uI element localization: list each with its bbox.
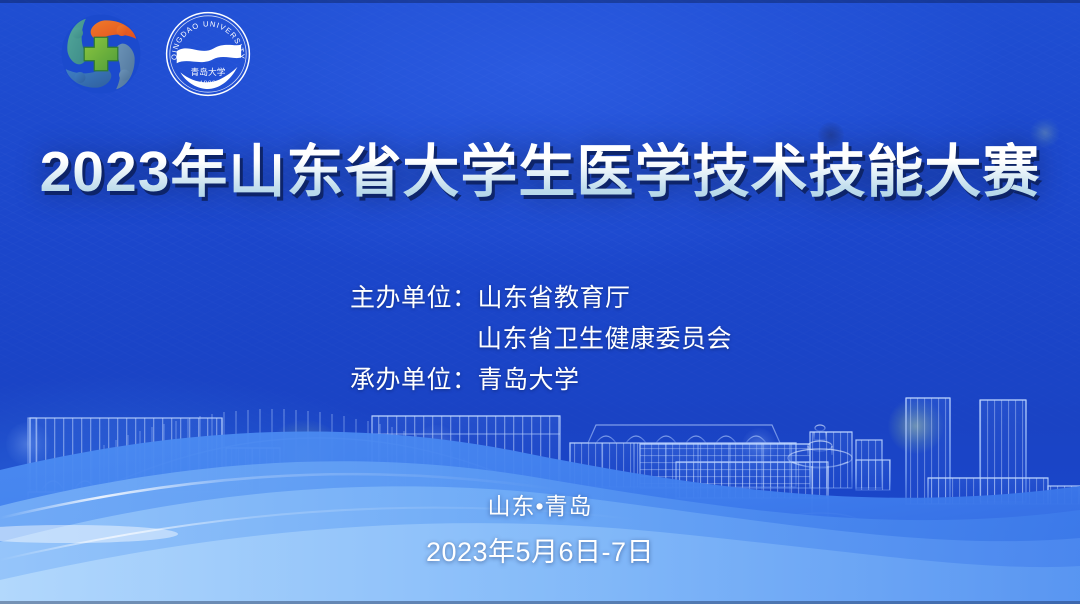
event-date: 2023年5月6日-7日	[0, 530, 1080, 569]
seal-chinese-text: 青岛大学	[191, 66, 226, 78]
organizer-label-3: 承办单位：	[350, 366, 478, 394]
organizer-value-2: 山东省卫生健康委员会	[477, 325, 732, 353]
page-title: 2023年山东省大学生医学技术技能大赛	[0, 142, 1080, 204]
organizer-label-1: 主办单位：	[350, 284, 478, 312]
medical-skills-competition-emblem-icon	[58, 12, 144, 96]
organizer-value-3: 青岛大学	[478, 366, 580, 394]
logo-group: QINGDAO UNIVERSITY 青岛大学 1909	[58, 8, 254, 100]
organizer-line-3: 承办单位：青岛大学	[350, 360, 732, 401]
poster-banner: QINGDAO UNIVERSITY 青岛大学 1909 2023年山东省大学生…	[0, 0, 1080, 604]
organizer-line-1: 主办单位：山东省教育厅	[350, 278, 732, 319]
qingdao-university-seal-icon: QINGDAO UNIVERSITY 青岛大学 1909	[162, 8, 254, 100]
organizer-block: 主办单位：山东省教育厅 山东省卫生健康委员会 承办单位：青岛大学	[350, 278, 732, 401]
seal-year: 1909	[200, 80, 217, 87]
organizer-value-1: 山东省教育厅	[478, 284, 631, 312]
organizer-line-2: 山东省卫生健康委员会	[350, 319, 732, 360]
event-location: 山东•青岛	[0, 487, 1080, 521]
frame-edge-top	[0, 0, 1080, 3]
footer-block: 山东•青岛 2023年5月6日-7日	[0, 487, 1080, 569]
